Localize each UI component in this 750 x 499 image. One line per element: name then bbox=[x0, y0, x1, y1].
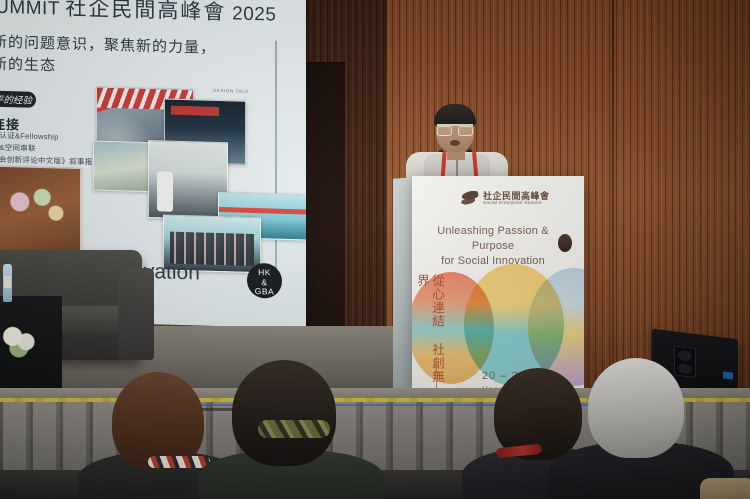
speaker-cable-connector bbox=[723, 371, 733, 379]
attendee-collar bbox=[258, 420, 330, 438]
water-bottle bbox=[3, 264, 12, 302]
podium-front-panel: 社企民間高峰會 Social Enterprise Summit Unleash… bbox=[412, 176, 584, 392]
slide-photo bbox=[148, 140, 228, 220]
summit-logo: 社企民間高峰會 Social Enterprise Summit bbox=[460, 188, 560, 210]
slide-photo bbox=[0, 166, 81, 256]
podium-vertical-line1: 從心連結 bbox=[430, 274, 444, 328]
chair-back bbox=[700, 478, 750, 499]
attendee-head bbox=[232, 360, 336, 466]
leaf-icon bbox=[458, 187, 481, 210]
doorway-opening bbox=[301, 62, 345, 362]
attendee-head bbox=[588, 358, 684, 458]
slide-title: SUMMIT 社企民間高峰會 2025 bbox=[0, 0, 282, 28]
award-seal-icon bbox=[558, 234, 572, 252]
slide-title-year: 2025 bbox=[232, 3, 276, 25]
summit-logo-en: Social Enterprise Summit bbox=[483, 200, 542, 205]
podium-tagline: Unleashing Passion & Purpose for Social … bbox=[424, 224, 562, 269]
podium-tagline-line1: Unleashing Passion & Purpose bbox=[424, 224, 562, 254]
slide-pill-label: 平的经验 bbox=[0, 90, 36, 108]
slide-title-cn: 社企民間高峰會 bbox=[65, 0, 226, 24]
slide-collage-label: DESIGN TALK bbox=[213, 88, 249, 94]
slide-pill-text: 平的经验 bbox=[0, 92, 32, 107]
podium-tagline-line2: for Social Innovation bbox=[424, 254, 562, 269]
attendee-scarf bbox=[148, 456, 210, 468]
armchair-arm bbox=[118, 268, 154, 360]
hk-gba-line3: GBA bbox=[247, 287, 282, 297]
slide-vertical-rule bbox=[275, 41, 277, 281]
conference-photo-scene: SUMMIT 社企民間高峰會 2025 绕新的问题意识，聚焦新的力量， 造新的生… bbox=[0, 0, 750, 499]
slide-headline: 绕新的问题意识，聚焦新的力量， 造新的生态 bbox=[0, 31, 286, 84]
flower-arrangement bbox=[0, 322, 42, 358]
glasses-icon bbox=[437, 124, 473, 134]
hk-gba-logo: HK & GBA bbox=[247, 263, 282, 299]
slide-title-en: SUMMIT bbox=[0, 0, 60, 20]
slide-section-1-bullet-2: 动空间&空间串联 bbox=[0, 141, 36, 154]
speaker-mouth bbox=[450, 140, 460, 146]
slide-section-1-bullet-1: 益企业认证&Fellowship bbox=[0, 129, 59, 142]
